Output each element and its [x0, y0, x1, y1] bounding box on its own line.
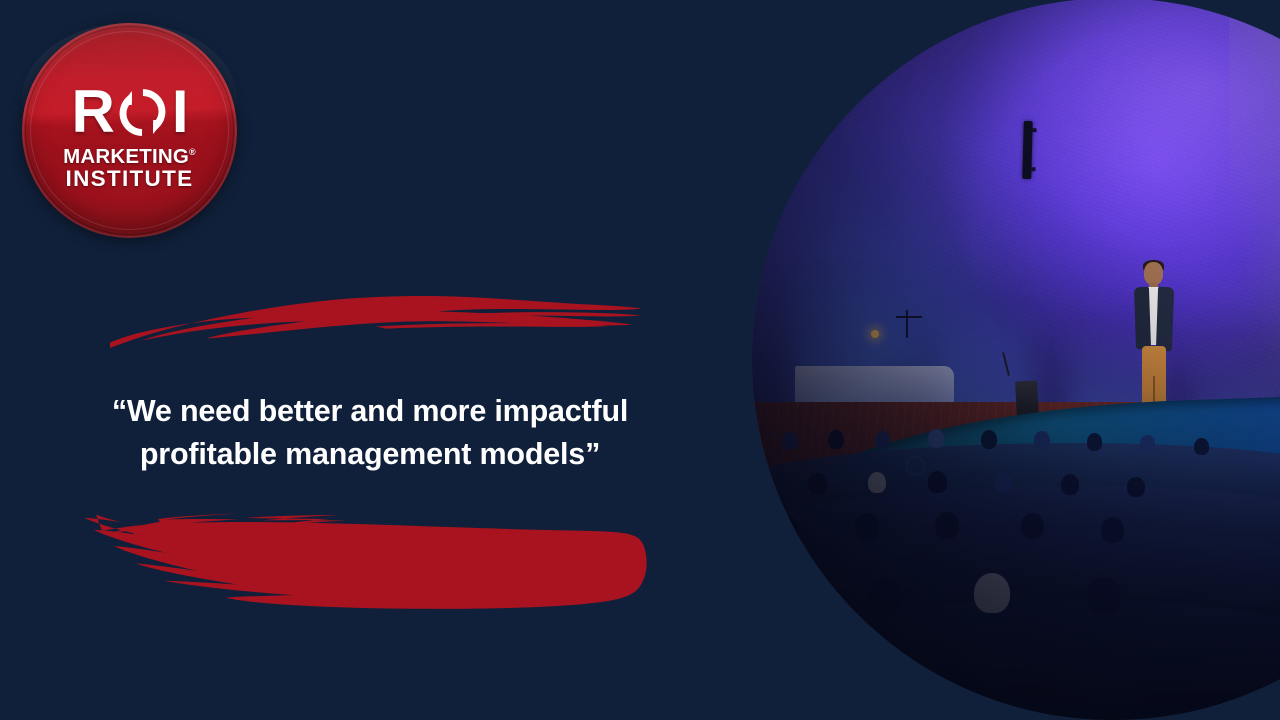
- brush-stroke-top: [108, 278, 642, 352]
- quote-line-2: profitable management models”: [40, 433, 700, 476]
- audience-head: [1140, 435, 1155, 452]
- audience: [752, 330, 1280, 720]
- audience-head: [868, 577, 902, 615]
- audience-head: [1087, 433, 1102, 451]
- audience-head: [752, 476, 767, 497]
- audience-head: [875, 431, 890, 449]
- audience-head: [782, 432, 798, 450]
- roi-marketing-institute-logo[interactable]: R I MARKETING® INSTITUTE: [22, 23, 237, 238]
- audience-head: [855, 513, 879, 540]
- event-photo-circle: ndo Xper misión FutureLab deep knowledge…: [752, 0, 1280, 720]
- lighting-truss: [896, 316, 922, 318]
- audience-head: [1087, 577, 1121, 615]
- audience-head: [1061, 474, 1079, 495]
- logo-marketing-text: MARKETING®: [63, 147, 196, 168]
- audience-head: [775, 516, 798, 542]
- quote-line-1: “We need better and more impactful: [40, 390, 700, 433]
- registered-trademark-icon: ®: [189, 147, 196, 157]
- slide-root: ndo Xper misión FutureLab deep knowledge…: [0, 0, 1280, 720]
- logo-institute-text: INSTITUTE: [66, 168, 194, 191]
- audience-head: [828, 430, 844, 449]
- logo-marketing-label: MARKETING: [63, 145, 189, 168]
- logo-roi-wordmark: R I: [71, 84, 187, 140]
- audience-head: [974, 573, 1010, 613]
- circular-arrow-icon: [115, 85, 170, 140]
- audience-head: [994, 472, 1012, 493]
- audience-head: [935, 512, 959, 539]
- quote-block: “We need better and more impactful profi…: [40, 390, 700, 477]
- audience-head: [808, 473, 827, 495]
- logo-letter-r: R: [71, 82, 113, 142]
- audience-head: [1127, 477, 1145, 497]
- audience-head: [981, 430, 997, 449]
- line-array-speaker-icon: [1022, 121, 1033, 179]
- event-photo: ndo Xper misión FutureLab deep knowledge…: [752, 0, 1280, 720]
- brush-stroke-bottom: [66, 505, 666, 617]
- audience-head: [928, 471, 947, 493]
- audience-head: [1034, 431, 1050, 449]
- logo-letter-i: I: [172, 82, 188, 142]
- audience-head: [1194, 438, 1209, 455]
- audience-head: [1021, 513, 1044, 539]
- audience-head: [868, 472, 886, 493]
- audience-head: [1101, 517, 1124, 543]
- audience-head: [928, 429, 944, 448]
